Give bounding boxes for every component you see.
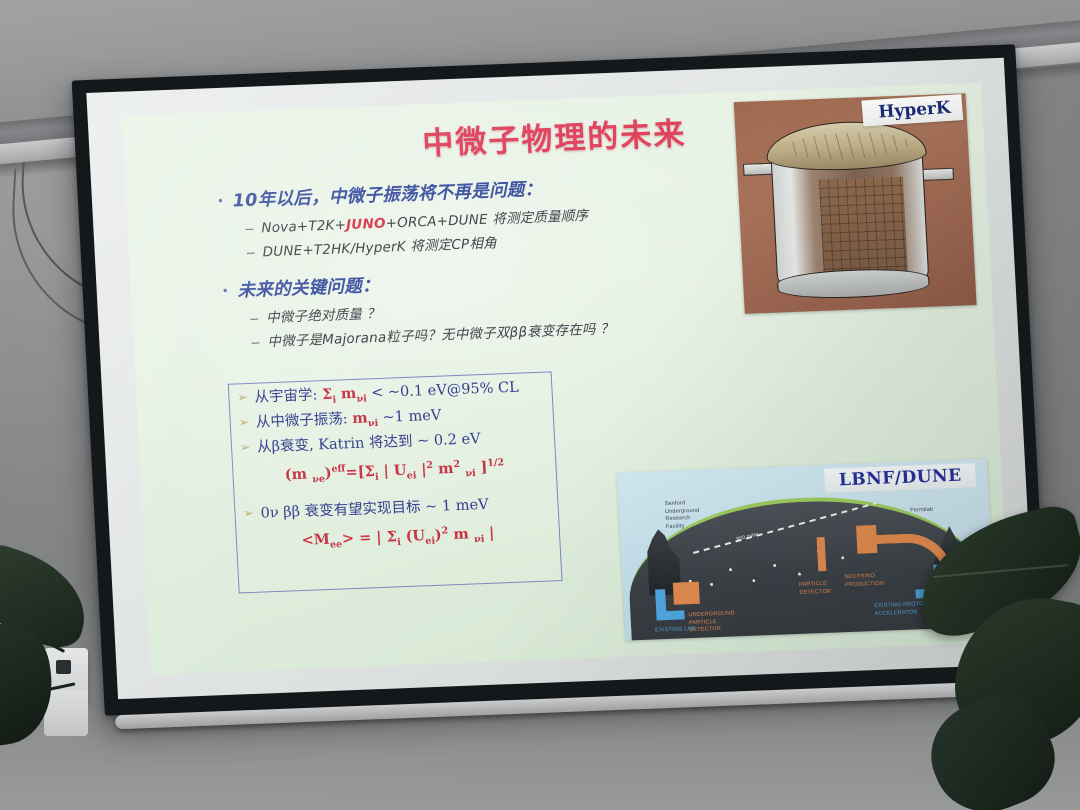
screen-surface: 中微子物理的未来 • 10年以后，中微子振荡将不再是问题： – Nova+T2K… bbox=[86, 58, 1035, 699]
arrow-bullet-icon: ➢ bbox=[239, 436, 250, 458]
hyperk-label: HyperK bbox=[861, 94, 963, 126]
slide-title: 中微子物理的未来 bbox=[318, 104, 790, 167]
sub-text-pre: Nova+T2K+ bbox=[261, 217, 347, 236]
dash-icon: – bbox=[250, 307, 259, 329]
photo-scene: 中微子物理的未来 • 10年以后，中微子振荡将不再是问题： – Nova+T2K… bbox=[0, 0, 1080, 810]
hyperk-detector-image: HyperK bbox=[734, 93, 977, 314]
formula-row: ➢ 0ν ββ 衰变有望实现目标 ~ 1 meV bbox=[243, 490, 558, 524]
wall-socket-lower[interactable] bbox=[44, 690, 88, 736]
dash-icon: – bbox=[251, 331, 260, 353]
neutrino-production-label: NEUTRINO PRODUCTION bbox=[845, 573, 890, 590]
sub-text-highlight: JUNO bbox=[346, 216, 386, 233]
arrow-bullet-icon: ➢ bbox=[243, 501, 254, 523]
dash-icon: – bbox=[246, 241, 255, 263]
projector-screen: 中微子物理的未来 • 10年以后，中微子振荡将不再是问题： – Nova+T2K… bbox=[72, 44, 1049, 715]
particle-detector-label: PARTICLE DETECTOR bbox=[799, 580, 844, 597]
bullet-dot-icon: • bbox=[217, 188, 223, 214]
lbnf-dune-label: LBNF/DUNE bbox=[824, 463, 976, 493]
bullet-level1-text: 未来的关键问题： bbox=[237, 272, 381, 302]
near-detector-shaft bbox=[817, 537, 827, 571]
hyperk-tank-illustration bbox=[759, 117, 938, 293]
formula-symbol: Σi mνi bbox=[322, 384, 367, 403]
fermilab-label: Fermilab bbox=[910, 507, 933, 515]
dash-icon: – bbox=[245, 217, 254, 239]
far-detector-label: UNDERGROUND PARTICLE DETECTOR bbox=[688, 610, 745, 635]
far-detector-block bbox=[673, 582, 700, 605]
existing-lab-label: EXISTING LAB bbox=[655, 626, 695, 635]
formula-symbol: mνi bbox=[352, 409, 378, 427]
mass-scale-formula-box: ➢ 从宇宙学: Σi mνi < ~0.1 eV@95% CL ➢ 从中微子振荡… bbox=[228, 371, 563, 593]
sanford-label: Sanford Underground Research Facility bbox=[664, 499, 710, 531]
presentation-slide: 中微子物理的未来 • 10年以后，中微子振荡将不再是问题： – Nova+T2K… bbox=[122, 83, 1011, 675]
arrow-bullet-icon: ➢ bbox=[237, 386, 248, 408]
slide-bullet-list: • 10年以后，中微子振荡将不再是问题： – Nova+T2K+JUNO+ORC… bbox=[217, 167, 785, 356]
formula-row-text: 0ν ββ 衰变有望实现目标 ~ 1 meV bbox=[260, 492, 489, 522]
existing-lab-level bbox=[656, 610, 684, 620]
arrow-bullet-icon: ➢ bbox=[238, 411, 249, 433]
bullet-dot-icon: • bbox=[222, 278, 228, 304]
majorana-mass-formula: <Mee> = | Σi (Uei)2 m νi | bbox=[237, 521, 560, 554]
effective-mass-formula: (m νe)eff=[Σi | Uei |2 m2 νi ]1/2 bbox=[233, 455, 556, 488]
hyperk-lid-ribs bbox=[784, 130, 909, 161]
bullet-level2-text: 中微子绝对质量 ？ bbox=[266, 302, 381, 326]
